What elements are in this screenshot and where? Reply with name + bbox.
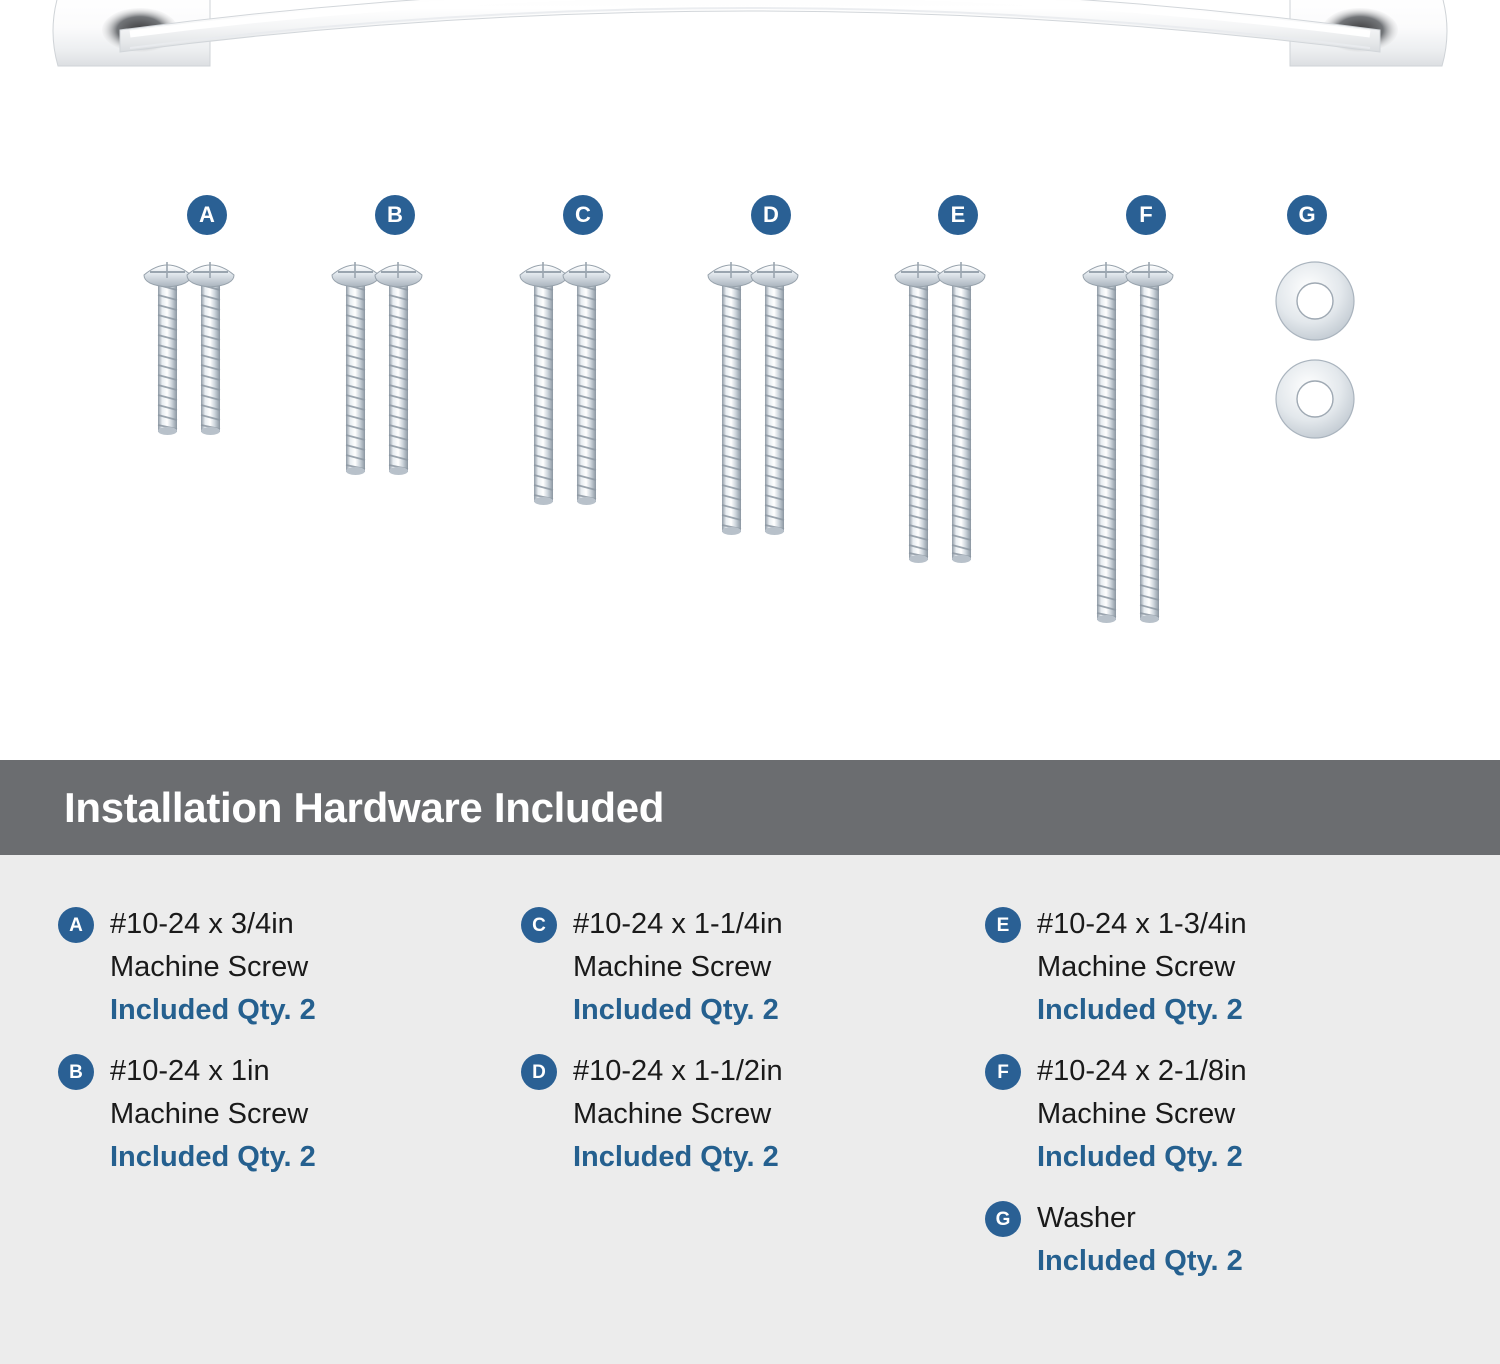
legend-badge-b: B — [58, 1054, 94, 1090]
diagram-badge-e: E — [938, 195, 978, 235]
washer-bottom — [1276, 360, 1354, 438]
diagram-badge-d: D — [751, 195, 791, 235]
legend-text-b: #10-24 x 1in Machine Screw Included Qty.… — [110, 1050, 488, 1179]
legend-column-3: E #10-24 x 1-3/4in Machine Screw Include… — [985, 903, 1455, 1301]
legend-desc-line1-e: #10-24 x 1-3/4in — [1037, 903, 1455, 946]
legend-desc-line1-g: Washer — [1037, 1197, 1455, 1240]
legend-column-2: C #10-24 x 1-1/4in Machine Screw Include… — [521, 903, 961, 1197]
legend-text-d: #10-24 x 1-1/2in Machine Screw Included … — [573, 1050, 961, 1179]
screw-pair-c — [519, 255, 649, 515]
diagram-badge-g: G — [1287, 195, 1327, 235]
hardware-legend: A #10-24 x 3/4in Machine Screw Included … — [0, 855, 1500, 1364]
legend-badge-g: G — [985, 1201, 1021, 1237]
legend-text-f: #10-24 x 2-1/8in Machine Screw Included … — [1037, 1050, 1455, 1179]
legend-desc-line2-d: Machine Screw — [573, 1093, 961, 1136]
legend-item-g: G Washer Included Qty. 2 — [985, 1197, 1455, 1283]
screw-pair-d — [707, 255, 837, 545]
legend-text-c: #10-24 x 1-1/4in Machine Screw Included … — [573, 903, 961, 1032]
diagram-badge-a: A — [187, 195, 227, 235]
legend-text-e: #10-24 x 1-3/4in Machine Screw Included … — [1037, 903, 1455, 1032]
legend-item-b: B #10-24 x 1in Machine Screw Included Qt… — [58, 1050, 488, 1179]
washer-top — [1276, 262, 1354, 340]
diagram-badge-c: C — [563, 195, 603, 235]
screw-pair-a — [143, 255, 273, 445]
legend-badge-a: A — [58, 907, 94, 943]
page-title: Installation Hardware Included — [64, 784, 664, 832]
cabinet-pull-image — [0, 0, 1500, 114]
screw-pair-e — [894, 255, 1024, 573]
installation-hardware-title-bar: Installation Hardware Included — [0, 760, 1500, 855]
product-image-area: A — [0, 0, 1500, 760]
legend-qty-f: Included Qty. 2 — [1037, 1136, 1455, 1179]
washer-pair-g — [1262, 255, 1372, 455]
legend-item-d: D #10-24 x 1-1/2in Machine Screw Include… — [521, 1050, 961, 1179]
legend-qty-c: Included Qty. 2 — [573, 989, 961, 1032]
legend-badge-c: C — [521, 907, 557, 943]
legend-item-c: C #10-24 x 1-1/4in Machine Screw Include… — [521, 903, 961, 1032]
legend-desc-line2-f: Machine Screw — [1037, 1093, 1455, 1136]
legend-desc-line2-c: Machine Screw — [573, 946, 961, 989]
legend-qty-d: Included Qty. 2 — [573, 1136, 961, 1179]
legend-desc-line1-d: #10-24 x 1-1/2in — [573, 1050, 961, 1093]
screw-pair-b — [331, 255, 461, 485]
legend-item-f: F #10-24 x 2-1/8in Machine Screw Include… — [985, 1050, 1455, 1179]
legend-qty-a: Included Qty. 2 — [110, 989, 488, 1032]
legend-badge-e: E — [985, 907, 1021, 943]
diagram-badge-b: B — [375, 195, 415, 235]
legend-desc-line1-f: #10-24 x 2-1/8in — [1037, 1050, 1455, 1093]
screw-pair-f — [1082, 255, 1212, 633]
legend-desc-line1-c: #10-24 x 1-1/4in — [573, 903, 961, 946]
legend-badge-d: D — [521, 1054, 557, 1090]
legend-text-a: #10-24 x 3/4in Machine Screw Included Qt… — [110, 903, 488, 1032]
legend-text-g: Washer Included Qty. 2 — [1037, 1197, 1455, 1283]
legend-qty-e: Included Qty. 2 — [1037, 989, 1455, 1032]
legend-qty-g: Included Qty. 2 — [1037, 1240, 1455, 1283]
legend-item-e: E #10-24 x 1-3/4in Machine Screw Include… — [985, 903, 1455, 1032]
legend-desc-line2-e: Machine Screw — [1037, 946, 1455, 989]
legend-desc-line1-a: #10-24 x 3/4in — [110, 903, 488, 946]
legend-badge-f: F — [985, 1054, 1021, 1090]
pull-bar — [120, 0, 1380, 52]
legend-column-1: A #10-24 x 3/4in Machine Screw Included … — [58, 903, 488, 1197]
diagram-badge-f: F — [1126, 195, 1166, 235]
legend-item-a: A #10-24 x 3/4in Machine Screw Included … — [58, 903, 488, 1032]
legend-qty-b: Included Qty. 2 — [110, 1136, 488, 1179]
legend-desc-line2-b: Machine Screw — [110, 1093, 488, 1136]
legend-desc-line2-a: Machine Screw — [110, 946, 488, 989]
legend-desc-line1-b: #10-24 x 1in — [110, 1050, 488, 1093]
